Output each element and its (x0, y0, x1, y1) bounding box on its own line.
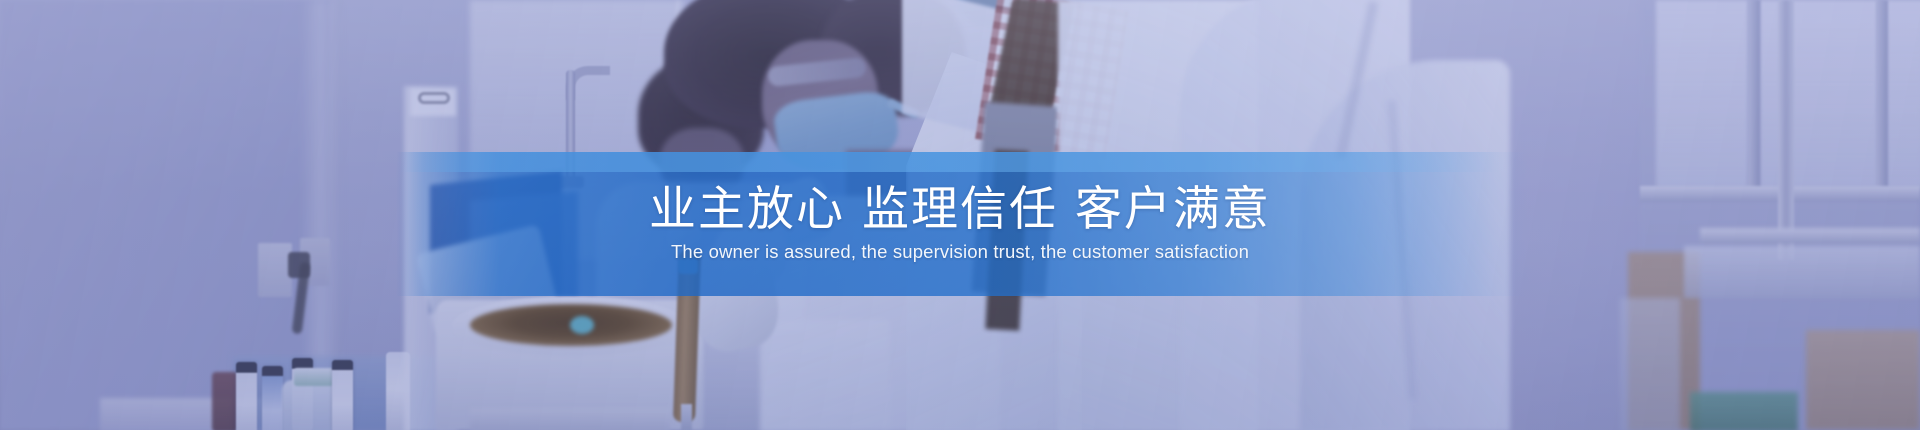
slogan-subline: The owner is assured, the supervision tr… (671, 241, 1249, 263)
lab-hero-banner: 业主放心 监理信任 客户满意 The owner is assured, the… (0, 0, 1920, 430)
slogan-block: 业主放心 监理信任 客户满意 The owner is assured, the… (0, 152, 1920, 296)
slogan-headline: 业主放心 监理信任 客户满意 (649, 185, 1271, 236)
